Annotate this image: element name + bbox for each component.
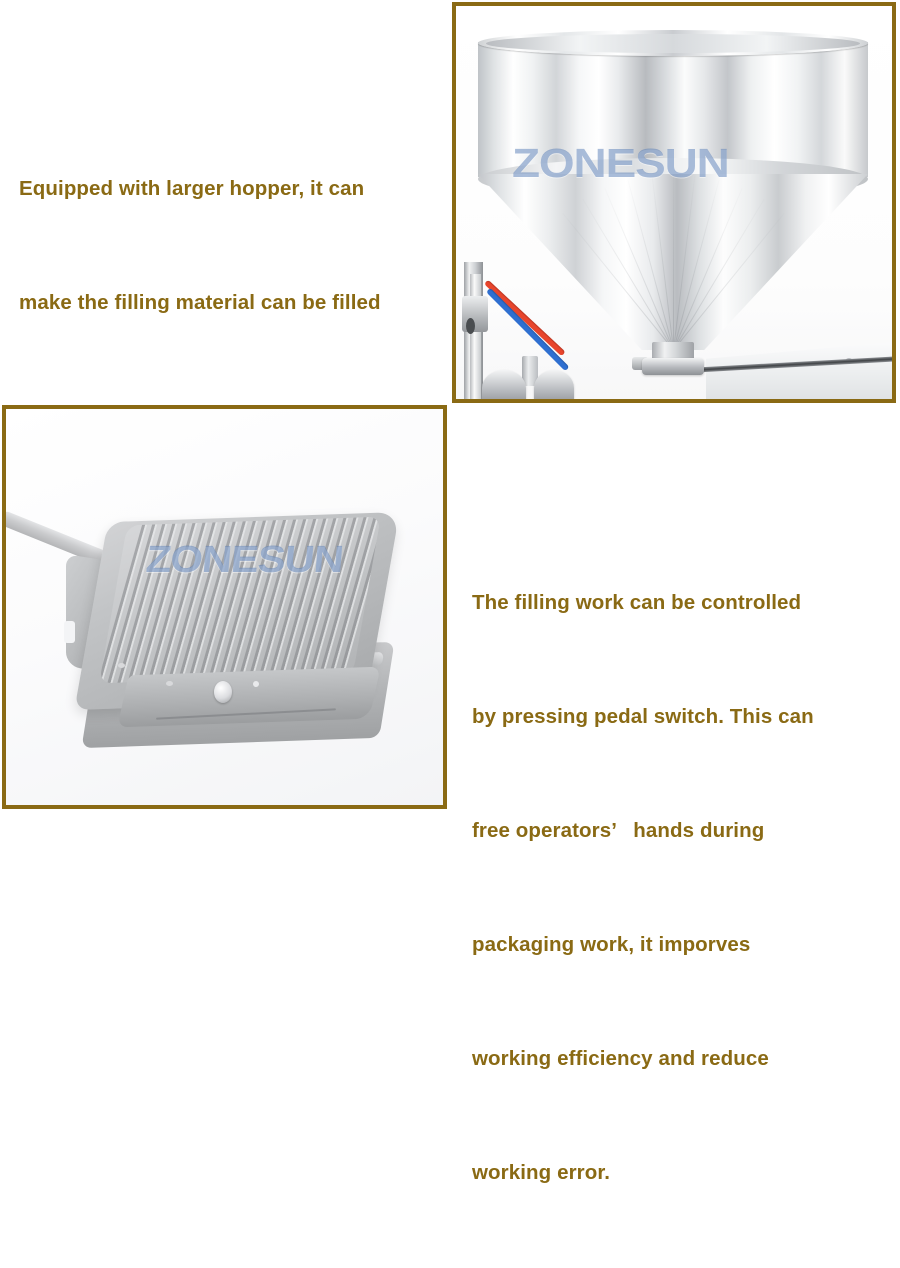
pedal-text-line: packaging work, it imporves — [472, 926, 892, 964]
pedal-text-line: working error. — [472, 1154, 892, 1192]
post-slot — [466, 318, 475, 334]
vertical-post-inner — [470, 274, 481, 399]
red-pneumatic-tube — [484, 280, 566, 357]
hopper-base-plate — [706, 342, 892, 399]
pedal-indicator-small — [253, 681, 259, 687]
pedal-photo-frame: ZONESUN — [2, 405, 447, 809]
pedal-product-photo: ZONESUN — [6, 409, 443, 805]
hopper-barrel — [478, 42, 868, 177]
lower-clamp — [482, 370, 526, 399]
pedal-text-line: working efficiency and reduce — [472, 1040, 892, 1078]
pedal-side-notch — [64, 621, 75, 643]
hopper-top-rim-inner — [486, 34, 860, 53]
hopper-text-line: make the filling material can be filled — [19, 284, 449, 322]
lower-clamp — [534, 370, 574, 399]
pedal-screw — [166, 681, 173, 686]
page-canvas: Equipped with larger hopper, it can make… — [0, 0, 900, 816]
hopper-photo-frame: ZONESUN — [452, 2, 896, 403]
hopper-text-line: Equipped with larger hopper, it can — [19, 170, 449, 208]
pedal-screw — [118, 663, 125, 668]
pedal-text-line: free operators’ hands during — [472, 812, 892, 850]
pedal-text-line: by pressing pedal switch. This can — [472, 698, 892, 736]
pedal-tread-surface — [99, 517, 381, 684]
hopper-cone-seams — [478, 174, 868, 350]
pedal-indicator — [214, 681, 232, 703]
sanitary-clamp — [642, 358, 704, 375]
pedal-text-line: The filling work can be controlled — [472, 584, 892, 622]
pedal-description-text: The filling work can be controlled by pr… — [472, 508, 892, 1268]
hopper-product-photo: ZONESUN — [456, 6, 892, 399]
